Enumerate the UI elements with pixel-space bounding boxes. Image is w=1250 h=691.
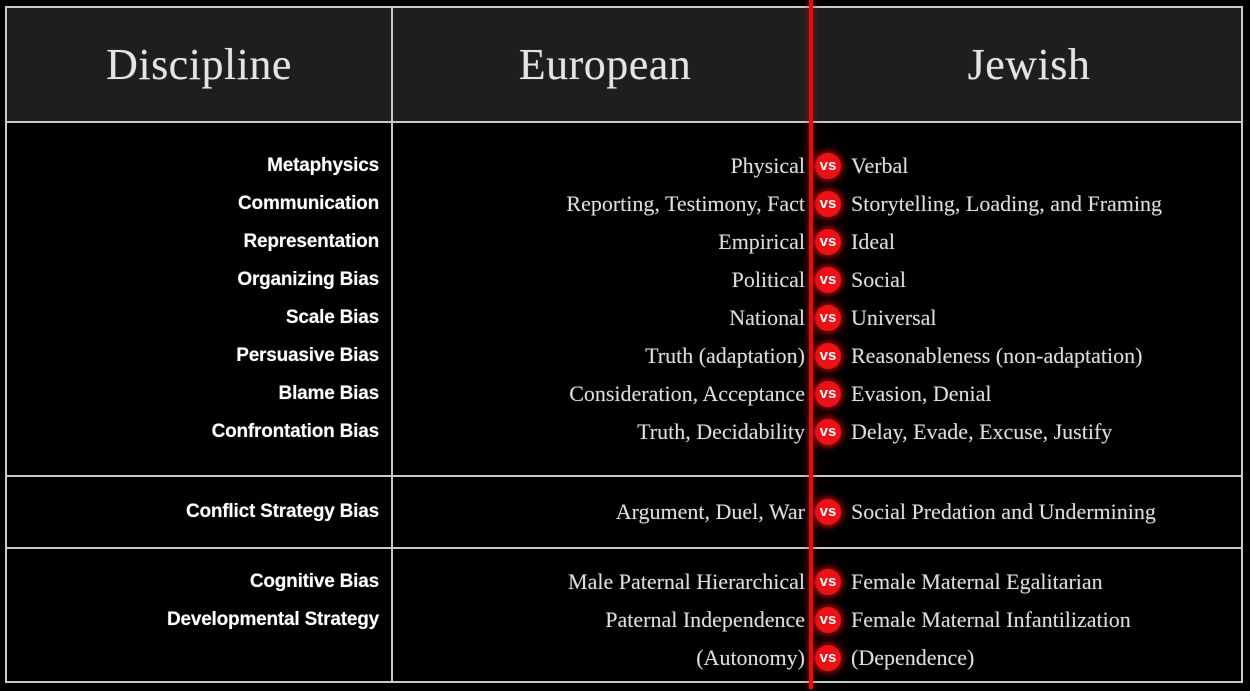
vs-slot: vs <box>813 499 843 525</box>
vs-badge: vs <box>815 229 841 255</box>
cell-discipline: Organizing Bias <box>7 269 391 291</box>
vs-badge: vs <box>815 381 841 407</box>
vs-badge: vs <box>815 645 841 671</box>
vs-badge: vs <box>815 499 841 525</box>
cell-discipline: Confrontation Bias <box>7 421 391 443</box>
cell-european: Reporting, Testimony, Fact <box>391 191 813 217</box>
cell-european: (Autonomy) <box>391 645 813 671</box>
vs-badge: vs <box>815 305 841 331</box>
vs-slot: vs <box>813 191 843 217</box>
vs-slot: vs <box>813 569 843 595</box>
table-row: Blame BiasConsideration, AcceptancevsEva… <box>7 375 1241 413</box>
cell-european: National <box>391 305 813 331</box>
table-row: Cognitive BiasMale Paternal Hierarchical… <box>7 563 1241 601</box>
cell-discipline: Blame Bias <box>7 383 391 405</box>
cell-jewish: (Dependence) <box>843 645 1241 671</box>
vs-slot: vs <box>813 267 843 293</box>
cell-european: Consideration, Acceptance <box>391 381 813 407</box>
cell-european: Male Paternal Hierarchical <box>391 569 813 595</box>
cell-european: Truth (adaptation) <box>391 343 813 369</box>
cell-jewish: Storytelling, Loading, and Framing <box>843 191 1241 217</box>
cell-discipline: Representation <box>7 231 391 253</box>
cell-discipline: Scale Bias <box>7 307 391 329</box>
table-row: RepresentationEmpiricalvsIdeal <box>7 223 1241 261</box>
table-row: (Autonomy)vs(Dependence) <box>7 639 1241 677</box>
cell-jewish: Social <box>843 267 1241 293</box>
header-cell-jewish: Jewish <box>817 8 1241 121</box>
table-section-cognitive-developmental: Cognitive BiasMale Paternal Hierarchical… <box>7 547 1241 691</box>
vs-badge: vs <box>815 267 841 293</box>
table-section-primary-biases: MetaphysicsPhysicalvsVerbalCommunication… <box>7 123 1241 475</box>
cell-european: Truth, Decidability <box>391 419 813 445</box>
header-cell-discipline: Discipline <box>7 8 391 121</box>
vs-slot: vs <box>813 343 843 369</box>
cell-discipline: Conflict Strategy Bias <box>7 501 391 523</box>
cell-jewish: Verbal <box>843 153 1241 179</box>
cell-jewish: Delay, Evade, Excuse, Justify <box>843 419 1241 445</box>
cell-jewish: Universal <box>843 305 1241 331</box>
column-divider <box>391 8 393 681</box>
vs-slot: vs <box>813 419 843 445</box>
table-row: Persuasive BiasTruth (adaptation)vsReaso… <box>7 337 1241 375</box>
vs-badge: vs <box>815 191 841 217</box>
vs-badge: vs <box>815 343 841 369</box>
vs-slot: vs <box>813 607 843 633</box>
cell-jewish: Ideal <box>843 229 1241 255</box>
vs-badge: vs <box>815 569 841 595</box>
cell-european: Paternal Independence <box>391 607 813 633</box>
cell-discipline: Metaphysics <box>7 155 391 177</box>
table-row: Conflict Strategy BiasArgument, Duel, Wa… <box>7 493 1241 531</box>
cell-european: Physical <box>391 153 813 179</box>
vs-badge: vs <box>815 607 841 633</box>
cell-jewish: Social Predation and Undermining <box>843 499 1241 525</box>
cell-discipline: Persuasive Bias <box>7 345 391 367</box>
table-section-conflict-strategy: Conflict Strategy BiasArgument, Duel, Wa… <box>7 475 1241 547</box>
vs-badge: vs <box>815 419 841 445</box>
vs-badge: vs <box>815 153 841 179</box>
table-row: Organizing BiasPoliticalvsSocial <box>7 261 1241 299</box>
comparison-table-page: Discipline European Jewish MetaphysicsPh… <box>0 0 1250 689</box>
vs-slot: vs <box>813 645 843 671</box>
cell-discipline: Developmental Strategy <box>7 609 391 631</box>
cell-discipline: Cognitive Bias <box>7 571 391 593</box>
vs-slot: vs <box>813 153 843 179</box>
table-row: Scale BiasNationalvsUniversal <box>7 299 1241 337</box>
vs-slot: vs <box>813 305 843 331</box>
vs-slot: vs <box>813 229 843 255</box>
cell-jewish: Evasion, Denial <box>843 381 1241 407</box>
vs-slot: vs <box>813 381 843 407</box>
cell-discipline: Communication <box>7 193 391 215</box>
table-body: MetaphysicsPhysicalvsVerbalCommunication… <box>7 123 1241 683</box>
table-row: Confrontation BiasTruth, DecidabilityvsD… <box>7 413 1241 451</box>
table-row: MetaphysicsPhysicalvsVerbal <box>7 147 1241 185</box>
cell-european: Political <box>391 267 813 293</box>
cell-jewish: Female Maternal Egalitarian <box>843 569 1241 595</box>
comparison-table: Discipline European Jewish MetaphysicsPh… <box>5 6 1243 683</box>
cell-jewish: Female Maternal Infantilization <box>843 607 1241 633</box>
cell-european: Empirical <box>391 229 813 255</box>
table-header-row: Discipline European Jewish <box>7 8 1241 123</box>
table-row: CommunicationReporting, Testimony, Factv… <box>7 185 1241 223</box>
table-row: Developmental StrategyPaternal Independe… <box>7 601 1241 639</box>
header-cell-european: European <box>393 8 817 121</box>
cell-jewish: Reasonableness (non-adaptation) <box>843 343 1241 369</box>
cell-european: Argument, Duel, War <box>391 499 813 525</box>
